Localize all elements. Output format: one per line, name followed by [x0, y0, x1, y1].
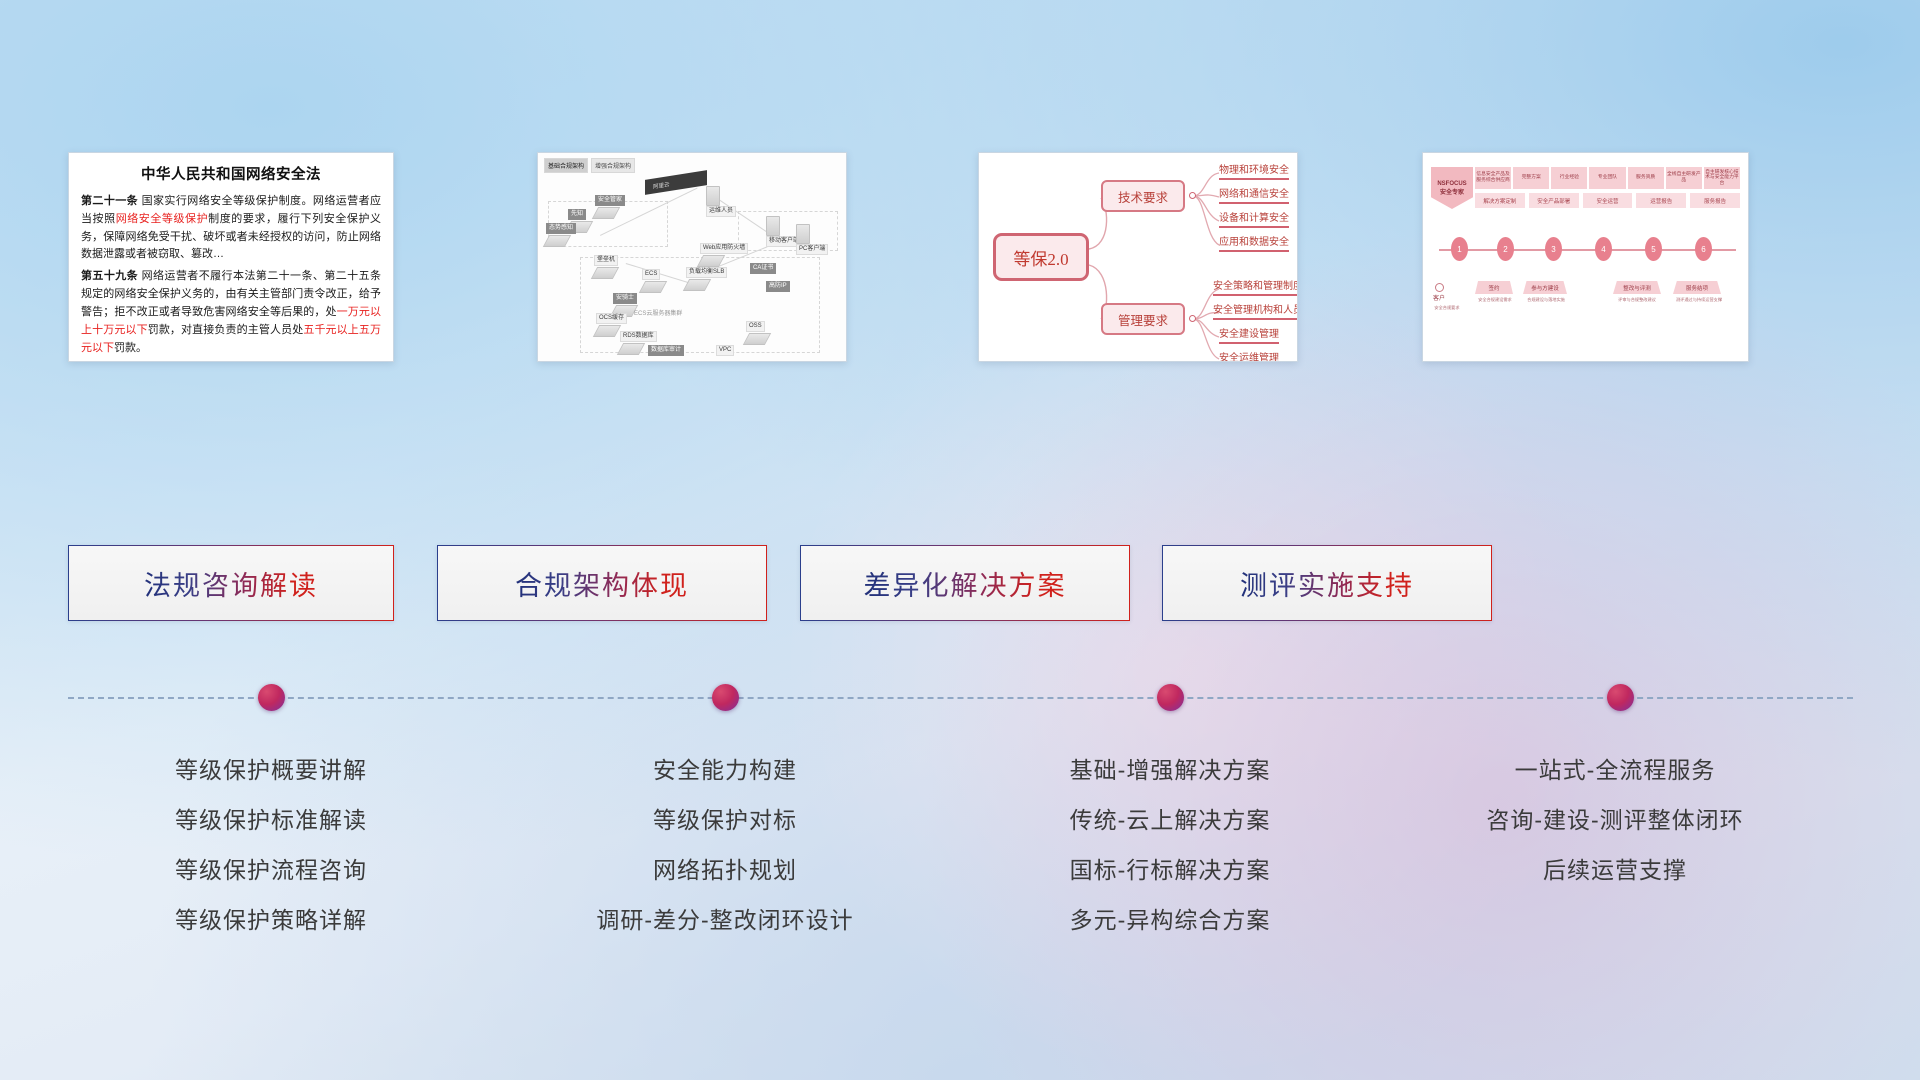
- list-item: 等级保护流程咨询: [86, 845, 456, 895]
- architecture-cloud-banner: 阿里云: [645, 170, 707, 195]
- nsfocus-note: 评审与合规整改建议: [1603, 297, 1671, 303]
- nsfocus-chip: 全线自主研发产品: [1666, 167, 1702, 189]
- mindmap-leaf-construction-mgmt: 安全建设管理: [1219, 325, 1279, 344]
- nsfocus-badge-line2: 安全专家: [1440, 187, 1464, 196]
- nsfocus-pill: 服务报告: [1690, 193, 1740, 208]
- nsfocus-step: 6: [1695, 237, 1712, 261]
- list-item: 网络拓扑规划: [540, 845, 910, 895]
- nsfocus-block-rectify: 整改与评测: [1613, 281, 1661, 294]
- pillar-heading-label-4: 测评实施支持: [1240, 564, 1414, 603]
- architecture-node-ecs: ECS: [642, 269, 664, 293]
- article-59-text-b: 罚款，对直接负责的主管人员处: [148, 324, 304, 336]
- list-item: 一站式-全流程服务: [1430, 745, 1800, 795]
- mindmap-branch-management: 管理要求: [1101, 303, 1185, 335]
- nsfocus-block-participate: 参与方建设: [1523, 281, 1567, 294]
- architecture-node-waf: Web应用防火墙: [700, 243, 748, 267]
- architecture-node-baoleiji: 堡垒机: [594, 255, 618, 279]
- pillar-heading-label-3: 差异化解决方案: [864, 564, 1067, 603]
- list-item: 等级保护标准解读: [86, 795, 456, 845]
- article-21-label: 第二十一条: [81, 195, 138, 207]
- list-item: 调研-差分-整改闭环设计: [540, 895, 910, 945]
- law-article-21: 第二十一条 国家实行网络安全等级保护制度。网络运营者应当按照网络安全等级保护制度…: [81, 193, 381, 264]
- nsfocus-chip: 专业团队: [1589, 167, 1625, 189]
- architecture-node-ca-cert: CA证书: [750, 263, 776, 274]
- nsfocus-chip: 服务资质: [1628, 167, 1664, 189]
- nsfocus-customer-icon: 客户: [1433, 283, 1445, 302]
- nsfocus-chip: 自主研发核心技术与安全能力平台: [1704, 167, 1740, 189]
- card-mindmap-dengbao: 等保2.0 技术要求 物理和环境安全 网络和通信安全 设备和计算安全 应用和数据…: [978, 152, 1298, 362]
- nsfocus-timeline-axis: [1439, 249, 1736, 251]
- nsfocus-step: 4: [1595, 237, 1612, 261]
- mindmap-branch-technical: 技术要求: [1101, 180, 1185, 212]
- architecture-node-pc-client: PC客户端: [796, 223, 828, 255]
- architecture-cloud-banner-label: 阿里云: [645, 170, 707, 192]
- mindmap-collapse-dot-technical[interactable]: [1189, 192, 1196, 199]
- architecture-node-slb: 负载均衡SLB: [686, 267, 727, 291]
- nsfocus-capability-chips: 信息安全产品及服务综合供应商 完整方案 行业经验 专业团队 服务资质 全线自主研…: [1475, 167, 1740, 189]
- article-59-label: 第五十九条: [81, 270, 138, 282]
- architecture-node-shishiganzhi: 态势感知: [546, 223, 576, 247]
- architecture-diagram: 基础合规架构 增强合规架构 阿里云 安全管家 先知 态势感知: [538, 153, 846, 361]
- card-nsfocus-timeline: NSFOCUS 安全专家 信息安全产品及服务综合供应商 完整方案 行业经验 专业…: [1422, 152, 1749, 362]
- nsfocus-chip: 信息安全产品及服务综合供应商: [1475, 167, 1511, 189]
- nsfocus-block-sign: 签约: [1475, 281, 1513, 294]
- law-text-block: 中华人民共和国网络安全法 第二十一条 国家实行网络安全等级保护制度。网络运营者应…: [69, 153, 393, 362]
- article-59-text-c: 罚款。: [114, 342, 147, 354]
- list-item: 国标-行标解决方案: [985, 845, 1355, 895]
- nsfocus-block-closure: 服务结项: [1673, 281, 1721, 294]
- list-item: 多元-异构综合方案: [985, 895, 1355, 945]
- architecture-tab-basic[interactable]: 基础合规架构: [544, 158, 588, 173]
- mindmap-leaf-app-data: 应用和数据安全: [1219, 233, 1289, 252]
- timeline-dashed-line: [68, 697, 1853, 699]
- pillar-heading-box-1[interactable]: 法规咨询解读: [68, 545, 394, 621]
- nsfocus-note: 安全合规要求: [1427, 305, 1467, 311]
- nsfocus-service-pills: 解决方案定制 安全产品部署 安全运营 运营报告 服务报告: [1475, 193, 1740, 208]
- nsfocus-customer-label: 客户: [1433, 296, 1445, 302]
- architecture-node-ecs-cluster: ECS云服务器集群: [634, 308, 682, 317]
- architecture-tab-enhanced[interactable]: 增强合规架构: [591, 158, 635, 173]
- pillar-items-1: 等级保护概要讲解 等级保护标准解读 等级保护流程咨询 等级保护策略详解: [86, 745, 456, 945]
- architecture-node-anti-ddos: 高防IP: [766, 281, 790, 292]
- pillar-items-3: 基础-增强解决方案 传统-云上解决方案 国标-行标解决方案 多元-异构综合方案: [985, 745, 1355, 945]
- architecture-tabs: 基础合规架构 增强合规架构: [544, 158, 635, 173]
- architecture-node-vpc: VPC: [716, 345, 734, 356]
- nsfocus-expert-badge: NSFOCUS 安全专家: [1431, 167, 1473, 209]
- nsfocus-chip: 行业经验: [1551, 167, 1587, 189]
- pillar-heading-label-1: 法规咨询解读: [144, 564, 318, 603]
- list-item: 安全能力构建: [540, 745, 910, 795]
- architecture-node-anquanguanjia: 安全管家: [595, 195, 625, 219]
- pillar-items-2: 安全能力构建 等级保护对标 网络拓扑规划 调研-差分-整改闭环设计: [540, 745, 910, 945]
- list-item: 咨询-建设-测评整体闭环: [1430, 795, 1800, 845]
- pillar-heading-box-4[interactable]: 测评实施支持: [1162, 545, 1492, 621]
- nsfocus-step: 2: [1497, 237, 1514, 261]
- list-item: 后续运营支撑: [1430, 845, 1800, 895]
- list-item: 等级保护对标: [540, 795, 910, 845]
- mindmap-leaf-network-comm: 网络和通信安全: [1219, 185, 1289, 204]
- person-icon: [1435, 283, 1444, 292]
- nsfocus-pill: 解决方案定制: [1475, 193, 1525, 208]
- nsfocus-note: 测评通过与持续运营支撑: [1663, 297, 1735, 303]
- timeline-dot-1[interactable]: [258, 684, 285, 711]
- nsfocus-pill: 安全运营: [1583, 193, 1633, 208]
- list-item: 等级保护概要讲解: [86, 745, 456, 795]
- nsfocus-step: 3: [1545, 237, 1562, 261]
- law-article-59: 第五十九条 网络运营者不履行本法第二十一条、第二十五条规定的网络安全保护义务的，…: [81, 268, 381, 357]
- architecture-node-oss: OSS: [746, 321, 768, 345]
- timeline-dot-2[interactable]: [712, 684, 739, 711]
- list-item: 等级保护策略详解: [86, 895, 456, 945]
- pillar-heading-box-2[interactable]: 合规架构体现: [437, 545, 767, 621]
- architecture-node-db-audit: 数据库审计: [648, 345, 684, 356]
- nsfocus-step: 1: [1451, 237, 1468, 261]
- card-compliance-architecture: 基础合规架构 增强合规架构 阿里云 安全管家 先知 态势感知: [537, 152, 847, 362]
- list-item: 基础-增强解决方案: [985, 745, 1355, 795]
- nsfocus-chip: 完整方案: [1513, 167, 1549, 189]
- pillar-items-4: 一站式-全流程服务 咨询-建设-测评整体闭环 后续运营支撑: [1430, 745, 1800, 895]
- timeline-dot-3[interactable]: [1157, 684, 1184, 711]
- pillar-heading-label-2: 合规架构体现: [515, 564, 689, 603]
- mindmap-leaf-physical-env: 物理和环境安全: [1219, 161, 1289, 180]
- mindmap-leaf-device-compute: 设备和计算安全: [1219, 209, 1289, 228]
- nsfocus-pill: 运营报告: [1636, 193, 1686, 208]
- slide-canvas: 中华人民共和国网络安全法 第二十一条 国家实行网络安全等级保护制度。网络运营者应…: [0, 0, 1920, 1080]
- mindmap-root-node: 等保2.0: [993, 233, 1089, 281]
- mindmap: 等保2.0 技术要求 物理和环境安全 网络和通信安全 设备和计算安全 应用和数据…: [979, 153, 1297, 361]
- timeline-dot-4[interactable]: [1607, 684, 1634, 711]
- law-title: 中华人民共和国网络安全法: [81, 163, 381, 184]
- article-21-highlight: 网络安全等级保护: [116, 213, 208, 225]
- nsfocus-step: 5: [1645, 237, 1662, 261]
- nsfocus-diagram: NSFOCUS 安全专家 信息安全产品及服务综合供应商 完整方案 行业经验 专业…: [1423, 153, 1748, 361]
- pillar-heading-box-3[interactable]: 差异化解决方案: [800, 545, 1130, 621]
- mindmap-leaf-org-personnel: 安全管理机构和人员: [1213, 301, 1298, 320]
- list-item: 传统-云上解决方案: [985, 795, 1355, 845]
- mindmap-leaf-ops-mgmt: 安全运维管理: [1219, 349, 1279, 362]
- nsfocus-pill: 安全产品部署: [1529, 193, 1579, 208]
- nsfocus-note: 合规建设与落地实施: [1515, 297, 1577, 303]
- mindmap-leaf-policy-system: 安全策略和管理制度: [1213, 277, 1298, 296]
- card-cybersecurity-law: 中华人民共和国网络安全法 第二十一条 国家实行网络安全等级保护制度。网络运营者应…: [68, 152, 394, 362]
- architecture-node-ops-staff: 运维人员: [706, 185, 736, 217]
- mindmap-collapse-dot-management[interactable]: [1189, 315, 1196, 322]
